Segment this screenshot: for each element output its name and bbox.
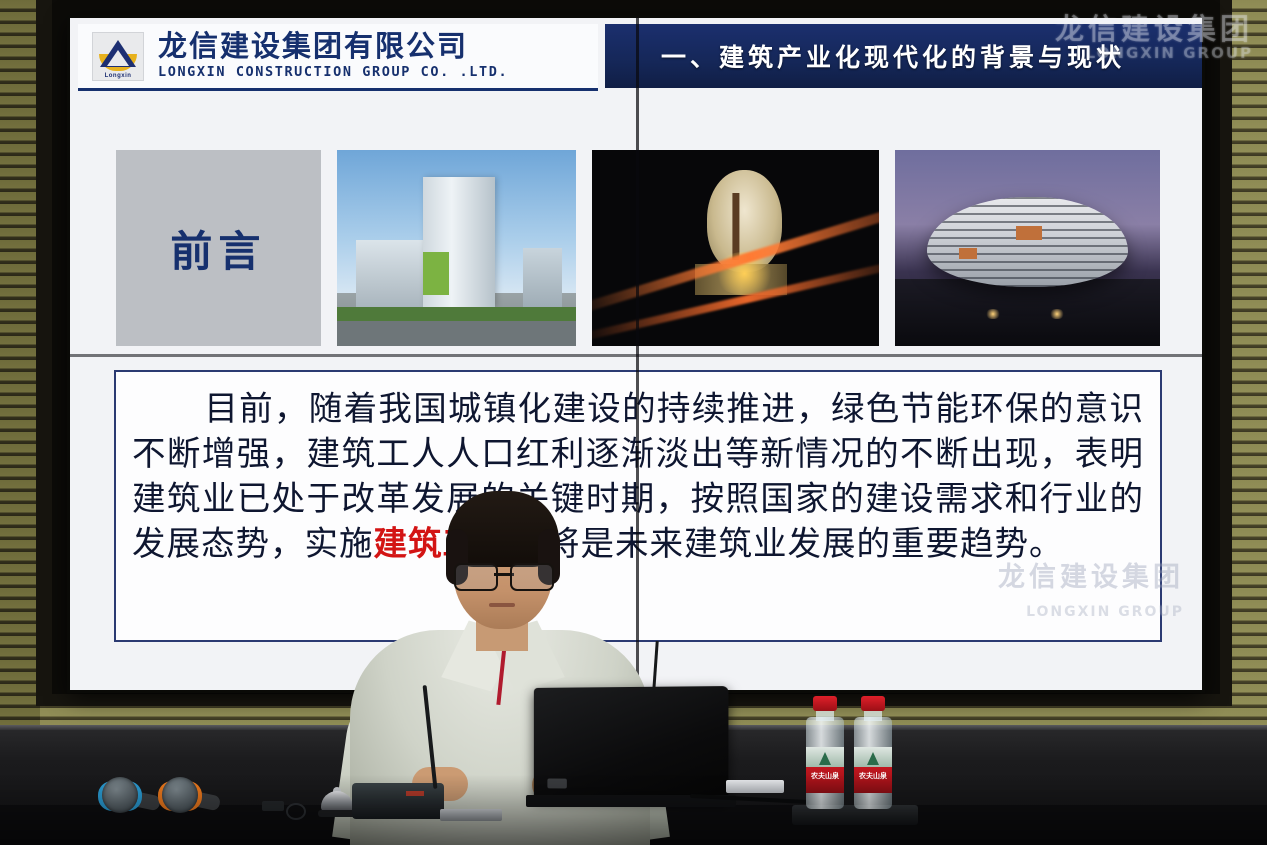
longxin-logo-icon: Longxin	[92, 32, 144, 81]
wall-left-shadow	[0, 0, 40, 845]
section-title-bar: 一、建筑产业化现代化的背景与现状	[605, 24, 1202, 88]
photo-road	[337, 321, 576, 346]
photo-ground-lamp-1	[985, 309, 1001, 319]
water-bottle-2-cap	[861, 696, 885, 711]
photo-lit-window-1	[1016, 226, 1042, 240]
photo-oval-building	[927, 197, 1128, 287]
presenter-mouth	[489, 603, 515, 607]
company-name-cn: 龙信建设集团有限公司	[158, 32, 508, 61]
notepad	[726, 780, 784, 793]
key-fob	[262, 801, 284, 811]
video-wall-seam-horizontal	[70, 354, 1202, 357]
conference-room-scene: Longxin 龙信建设集团有限公司 LONGXIN CONSTRUCTION …	[0, 0, 1267, 845]
water-bottle-1-mountain-icon	[819, 752, 831, 765]
water-bottle-1[interactable]: 农夫山泉	[800, 695, 850, 809]
eyeglasses-left-lens	[454, 563, 498, 591]
eyeglasses-right-lens	[510, 563, 554, 591]
logo-triangle-inner-shape	[107, 50, 129, 66]
laptop-logo-icon	[547, 778, 566, 788]
water-bottle-2-mountain-icon	[867, 752, 879, 765]
laptop-lid	[534, 686, 729, 800]
photo-ground-lamp-2	[1049, 309, 1065, 319]
microphone-status-led	[406, 791, 424, 796]
microphone-blue[interactable]	[98, 775, 142, 819]
oval-building-dusk-photo	[895, 150, 1160, 346]
conference-microphone-base[interactable]	[352, 783, 444, 819]
microphone-orange-mesh	[162, 777, 198, 813]
water-bottle-2-label-red: 农夫山泉	[854, 767, 892, 793]
water-bottle-1-label-red: 农夫山泉	[806, 767, 844, 793]
aerial-night-building-photo	[592, 150, 879, 346]
water-bottle-2-brand: 农夫山泉	[854, 771, 892, 781]
photo-lit-window-2	[959, 248, 977, 260]
company-identity-bar: Longxin 龙信建设集团有限公司 LONGXIN CONSTRUCTION …	[78, 24, 598, 91]
key-ring	[286, 803, 306, 820]
company-name-en: LONGXIN CONSTRUCTION GROUP CO. .LTD.	[158, 66, 508, 80]
service-bell-dome	[321, 791, 353, 811]
photo-hedge	[337, 307, 576, 321]
service-bell[interactable]	[318, 787, 356, 817]
preface-box: 前言	[116, 150, 321, 346]
service-bell-base	[318, 810, 356, 817]
microphone-orange[interactable]	[158, 775, 202, 819]
photo-tree-structure	[732, 193, 739, 260]
microphone-blue-mesh	[102, 777, 138, 813]
desk-card	[440, 809, 502, 821]
photo-back-building	[523, 248, 561, 307]
photo-balcony-bands	[927, 197, 1128, 287]
highrise-building-photo	[337, 150, 576, 346]
laptop[interactable]	[532, 687, 727, 807]
water-bottle-1-cap	[813, 696, 837, 711]
photo-side-building	[356, 240, 423, 307]
preface-label: 前言	[116, 150, 321, 346]
keys[interactable]	[262, 801, 318, 817]
section-title: 一、建筑产业化现代化的背景与现状	[661, 38, 1125, 74]
company-title-group: 龙信建设集团有限公司 LONGXIN CONSTRUCTION GROUP CO…	[158, 32, 508, 80]
water-bottle-2[interactable]: 农夫山泉	[848, 695, 898, 809]
eyeglasses-icon	[454, 563, 554, 589]
photo-dusk-ground	[895, 279, 1160, 346]
water-bottle-1-brand: 农夫山泉	[806, 771, 844, 781]
logo-wordmark: Longxin	[93, 73, 143, 79]
photo-green-facade	[423, 252, 449, 295]
